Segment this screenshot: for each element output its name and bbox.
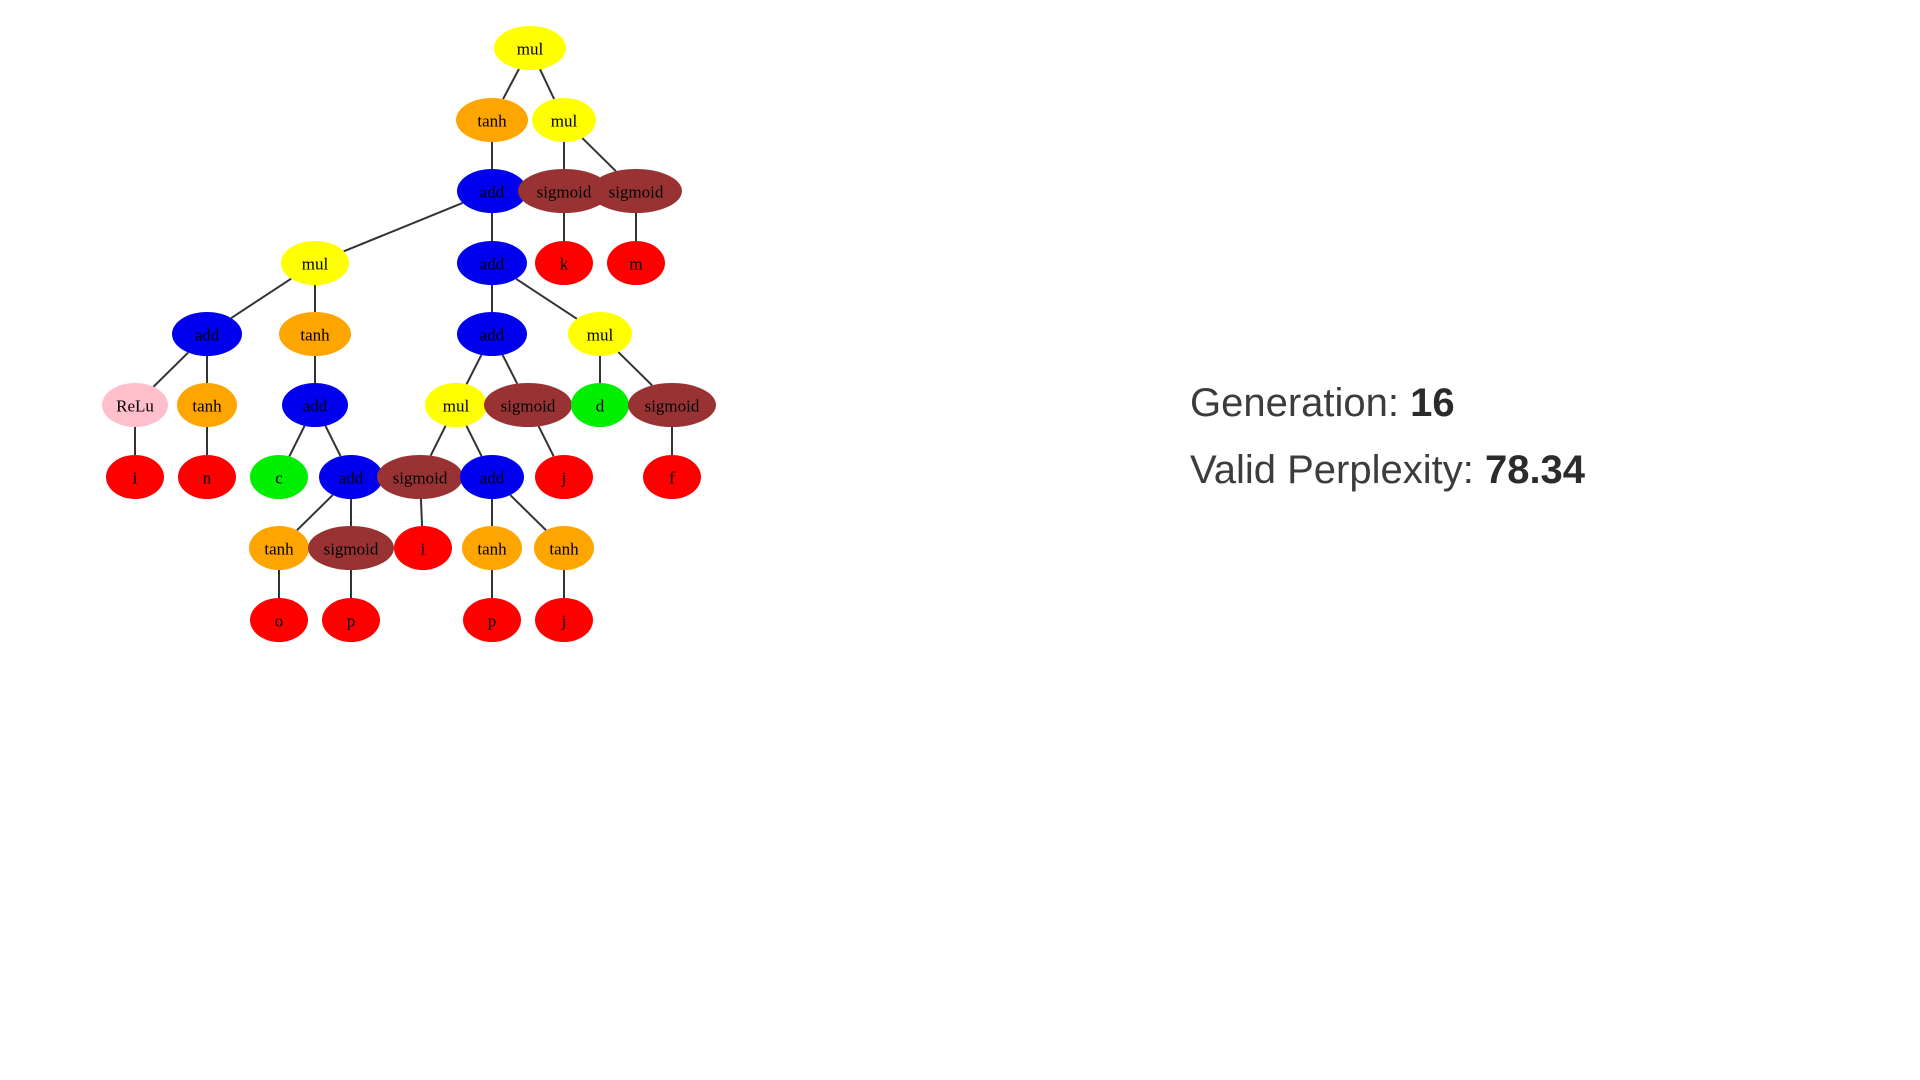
graph-node-j[interactable]: j — [535, 455, 593, 499]
graph-node-mul[interactable]: mul — [568, 312, 632, 356]
graph-node-add[interactable]: add — [319, 455, 383, 499]
graph-node-p[interactable]: p — [463, 598, 521, 642]
graph-node-j[interactable]: j — [535, 598, 593, 642]
node-shape[interactable] — [484, 383, 572, 427]
node-shape[interactable] — [571, 383, 629, 427]
graph-node-mul[interactable]: mul — [281, 241, 349, 285]
graph-node-mul[interactable]: mul — [532, 98, 596, 142]
graph-edge — [540, 69, 554, 99]
graph-node-mul[interactable]: mul — [494, 26, 566, 70]
node-shape[interactable] — [425, 383, 487, 427]
node-shape[interactable] — [394, 526, 452, 570]
graph-node-f[interactable]: f — [643, 455, 701, 499]
valid-perplexity-line: Valid Perplexity: 78.34 — [1190, 437, 1830, 504]
graph-edge — [466, 426, 481, 456]
node-shape[interactable] — [463, 598, 521, 642]
graph-node-c[interactable]: c — [250, 455, 308, 499]
node-shape[interactable] — [535, 598, 593, 642]
node-layer: multanhmuladdsigmoidsigmoidkmmuladdaddta… — [102, 26, 716, 642]
graph-node-tanh[interactable]: tanh — [249, 526, 309, 570]
node-shape[interactable] — [377, 455, 463, 499]
graph-edge — [503, 69, 519, 99]
node-shape[interactable] — [250, 455, 308, 499]
graph-node-sigmoid[interactable]: sigmoid — [484, 383, 572, 427]
node-shape[interactable] — [494, 26, 566, 70]
graph-edge — [421, 499, 422, 526]
graph-edge — [431, 426, 446, 456]
graph-node-tanh[interactable]: tanh — [534, 526, 594, 570]
graph-node-sigmoid[interactable]: sigmoid — [308, 526, 394, 570]
graph-edge — [539, 426, 554, 456]
graph-edge — [297, 495, 333, 530]
node-shape[interactable] — [249, 526, 309, 570]
node-shape[interactable] — [534, 526, 594, 570]
graph-node-n[interactable]: n — [178, 455, 236, 499]
node-shape[interactable] — [457, 169, 527, 213]
node-shape[interactable] — [250, 598, 308, 642]
graph-edge — [516, 279, 577, 319]
graph-edge — [582, 138, 616, 171]
graph-node-sigmoid[interactable]: sigmoid — [628, 383, 716, 427]
node-shape[interactable] — [628, 383, 716, 427]
node-shape[interactable] — [457, 241, 527, 285]
computation-graph-panel: multanhmuladdsigmoidsigmoidkmmuladdaddta… — [0, 0, 1060, 1080]
graph-node-tanh[interactable]: tanh — [279, 312, 351, 356]
node-shape[interactable] — [279, 312, 351, 356]
node-shape[interactable] — [102, 383, 168, 427]
graph-node-add[interactable]: add — [457, 312, 527, 356]
graph-node-add[interactable]: add — [457, 241, 527, 285]
graph-edge — [231, 279, 291, 318]
node-shape[interactable] — [106, 455, 164, 499]
valid-perplexity-label: Valid Perplexity: — [1190, 448, 1474, 492]
app-root: multanhmuladdsigmoidsigmoidkmmuladdaddta… — [0, 0, 1920, 1080]
node-shape[interactable] — [319, 455, 383, 499]
valid-perplexity-value: 78.34 — [1485, 448, 1585, 492]
node-shape[interactable] — [532, 98, 596, 142]
metrics-panel: Generation: 16 Valid Perplexity: 78.34 — [1190, 370, 1830, 504]
graph-node-add[interactable]: add — [172, 312, 242, 356]
generation-label: Generation: — [1190, 381, 1399, 425]
node-shape[interactable] — [308, 526, 394, 570]
graph-edge — [510, 495, 546, 530]
graph-edge — [467, 355, 482, 384]
graph-node-add[interactable]: add — [457, 169, 527, 213]
node-shape[interactable] — [590, 169, 682, 213]
generation-line: Generation: 16 — [1190, 370, 1830, 437]
graph-edge — [503, 355, 518, 384]
node-shape[interactable] — [462, 526, 522, 570]
computation-graph-svg[interactable]: multanhmuladdsigmoidsigmoidkmmuladdaddta… — [0, 0, 1060, 1080]
node-shape[interactable] — [281, 241, 349, 285]
graph-node-mul[interactable]: mul — [425, 383, 487, 427]
graph-node-sigmoid[interactable]: sigmoid — [590, 169, 682, 213]
node-shape[interactable] — [607, 241, 665, 285]
node-shape[interactable] — [177, 383, 237, 427]
graph-node-i[interactable]: i — [394, 526, 452, 570]
graph-edge — [325, 426, 340, 456]
node-shape[interactable] — [282, 383, 348, 427]
graph-node-tanh[interactable]: tanh — [462, 526, 522, 570]
node-shape[interactable] — [535, 455, 593, 499]
graph-edge — [153, 353, 188, 387]
graph-edge — [618, 352, 652, 385]
node-shape[interactable] — [460, 455, 524, 499]
graph-node-p[interactable]: p — [322, 598, 380, 642]
node-shape[interactable] — [456, 98, 528, 142]
graph-node-add[interactable]: add — [282, 383, 348, 427]
node-shape[interactable] — [172, 312, 242, 356]
node-shape[interactable] — [568, 312, 632, 356]
graph-node-d[interactable]: d — [571, 383, 629, 427]
node-shape[interactable] — [178, 455, 236, 499]
node-shape[interactable] — [535, 241, 593, 285]
graph-node-relu[interactable]: ReLu — [102, 383, 168, 427]
graph-node-add[interactable]: add — [460, 455, 524, 499]
graph-edge — [344, 203, 463, 251]
node-shape[interactable] — [322, 598, 380, 642]
graph-node-m[interactable]: m — [607, 241, 665, 285]
graph-edge — [289, 426, 304, 457]
graph-node-tanh[interactable]: tanh — [456, 98, 528, 142]
node-shape[interactable] — [643, 455, 701, 499]
graph-node-i[interactable]: i — [106, 455, 164, 499]
node-shape[interactable] — [457, 312, 527, 356]
generation-value: 16 — [1410, 381, 1455, 425]
graph-node-k[interactable]: k — [535, 241, 593, 285]
graph-node-o[interactable]: o — [250, 598, 308, 642]
graph-node-tanh[interactable]: tanh — [177, 383, 237, 427]
graph-node-sigmoid[interactable]: sigmoid — [377, 455, 463, 499]
